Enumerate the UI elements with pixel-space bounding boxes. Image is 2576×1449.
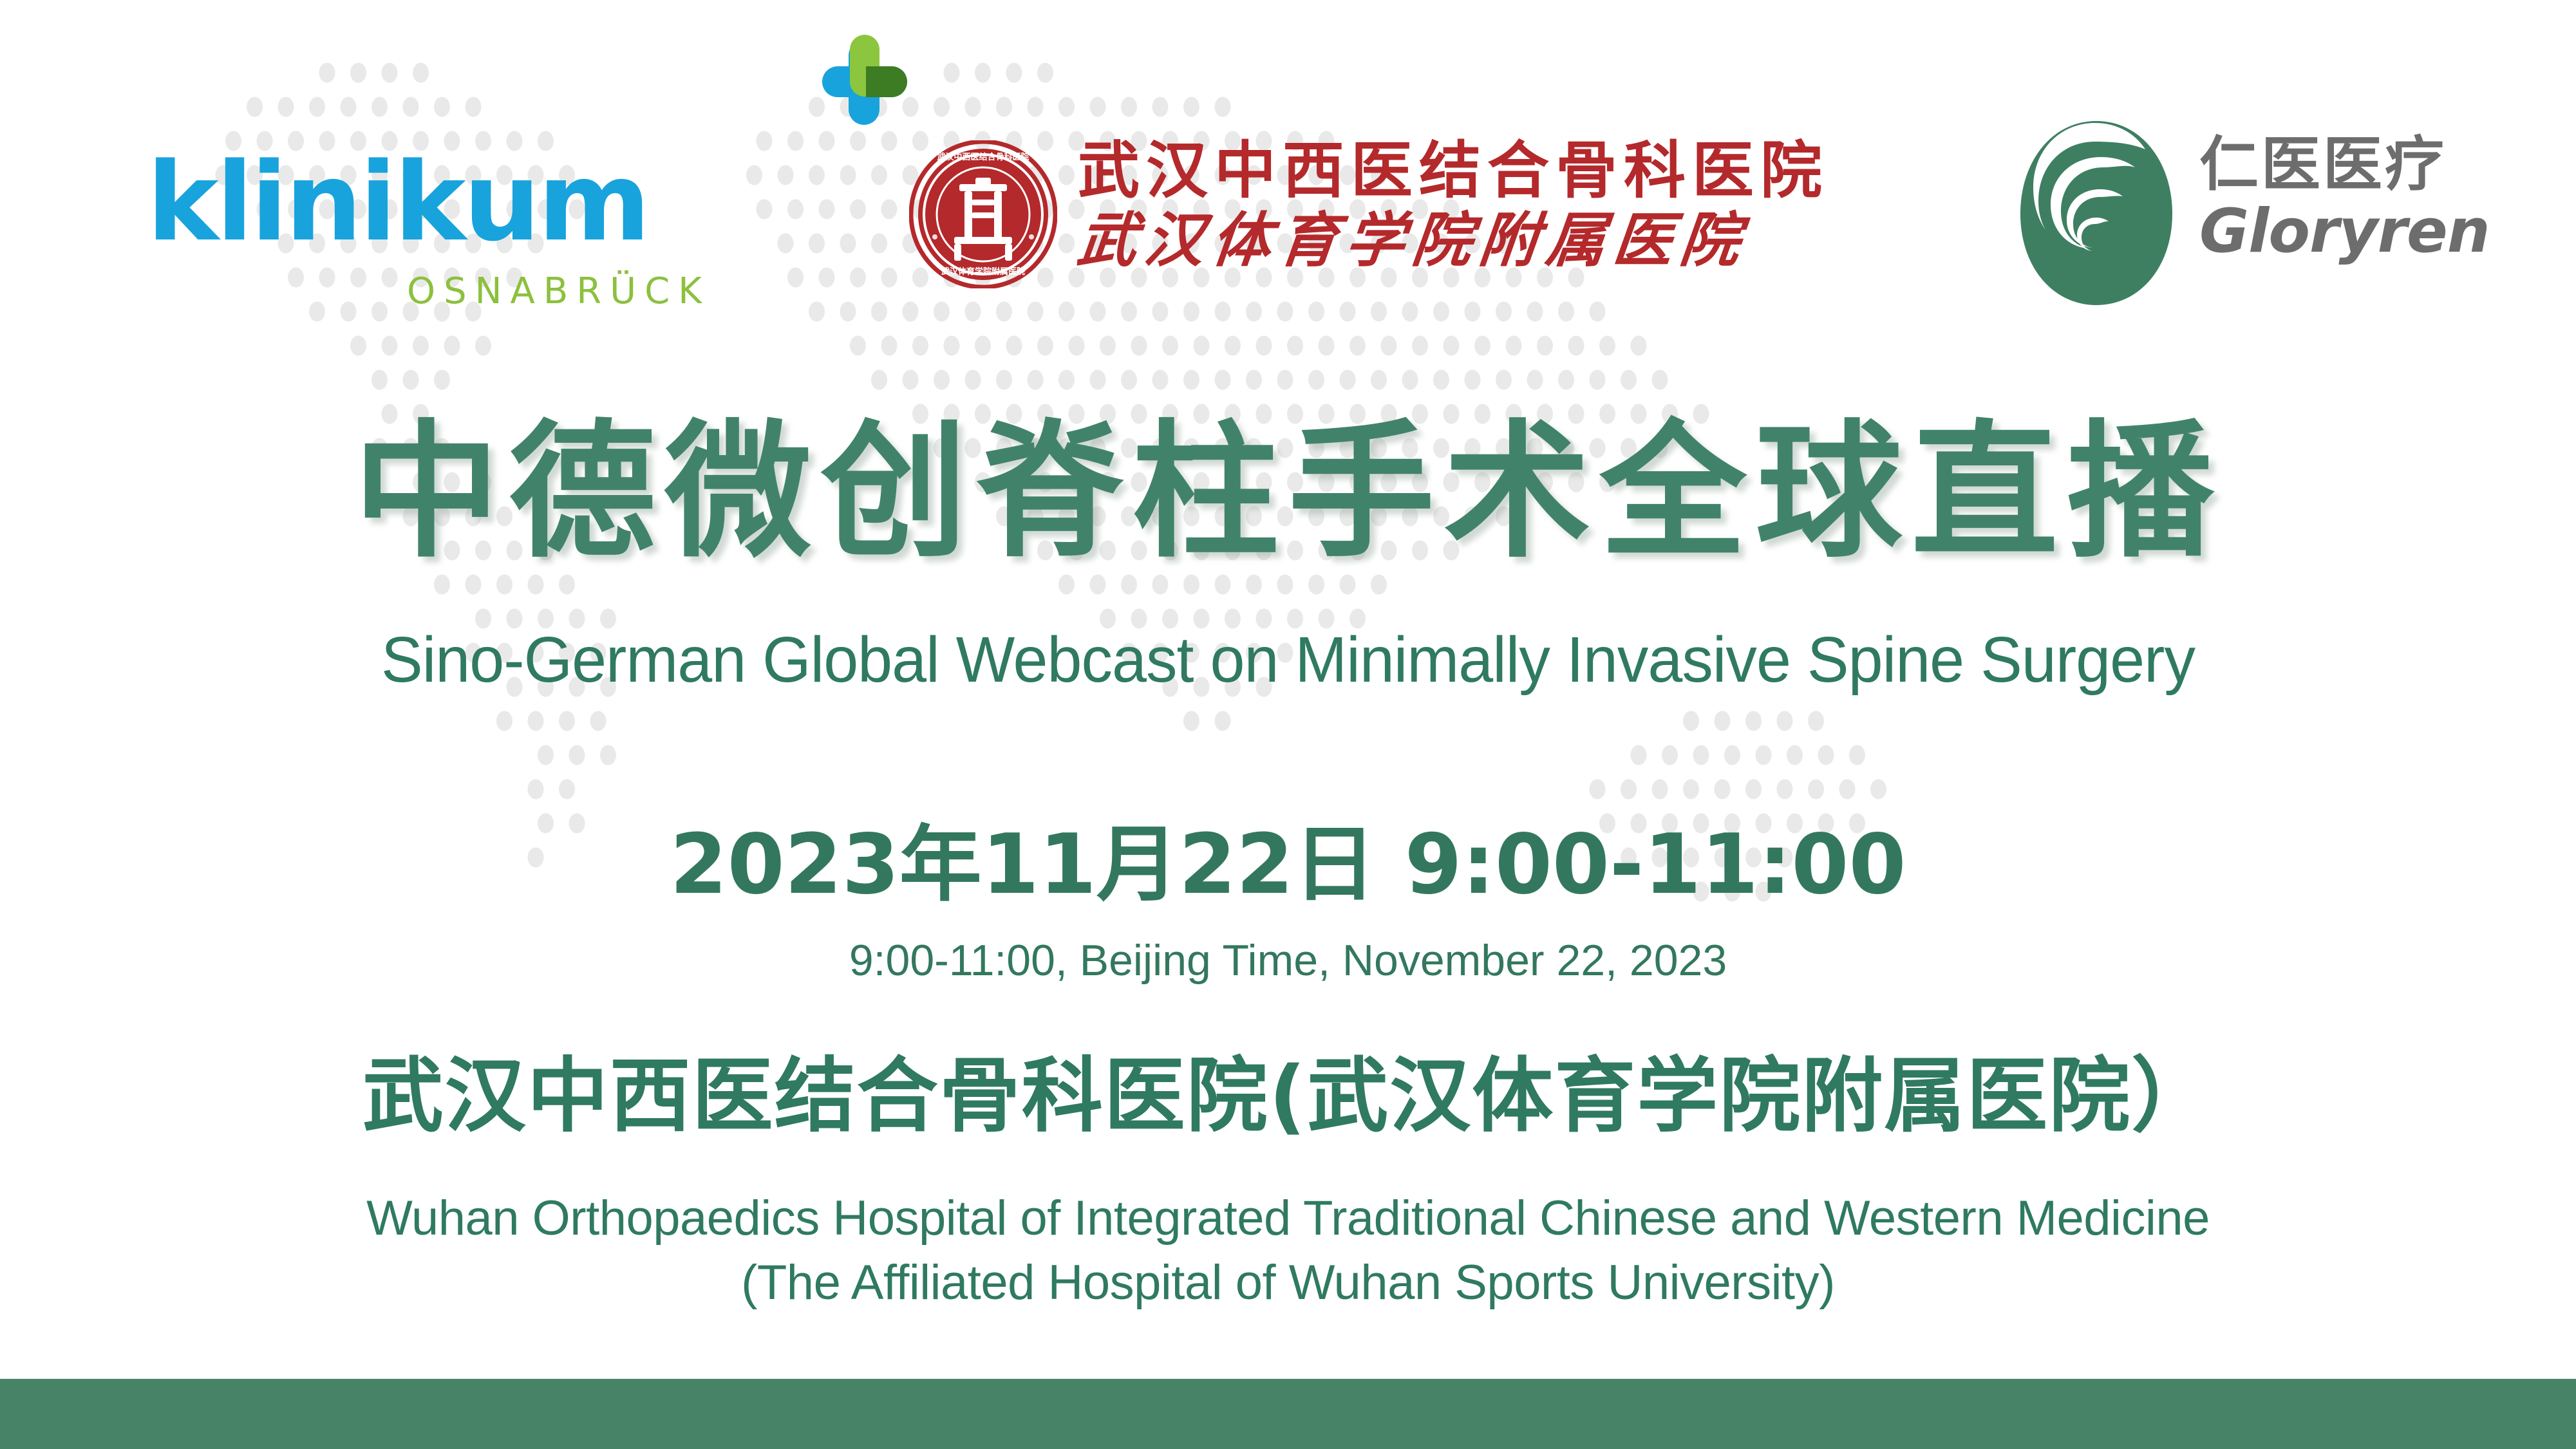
- event-date-cn: 2023年11月22日 9:00-11:00: [0, 824, 2576, 906]
- event-date-en: 9:00-11:00, Beijing Time, November 22, 2…: [0, 939, 2576, 982]
- event-venue-en-line2: (The Affiliated Hospital of Wuhan Sports…: [0, 1258, 2576, 1307]
- poster-content: 中德微创脊柱手术全球直播 Sino-German Global Webcast …: [0, 0, 2576, 1449]
- event-venue-cn: 武汉中西医结合骨科医院(武汉体育学院附属医院）: [0, 1056, 2576, 1137]
- page-title-cn: 中德微创脊柱手术全球直播: [0, 418, 2576, 565]
- footer-bar: [0, 1379, 2576, 1449]
- page-subtitle-en: Sino-German Global Webcast on Minimally …: [39, 628, 2537, 692]
- event-venue-en-line1: Wuhan Orthopaedics Hospital of Integrate…: [0, 1194, 2576, 1243]
